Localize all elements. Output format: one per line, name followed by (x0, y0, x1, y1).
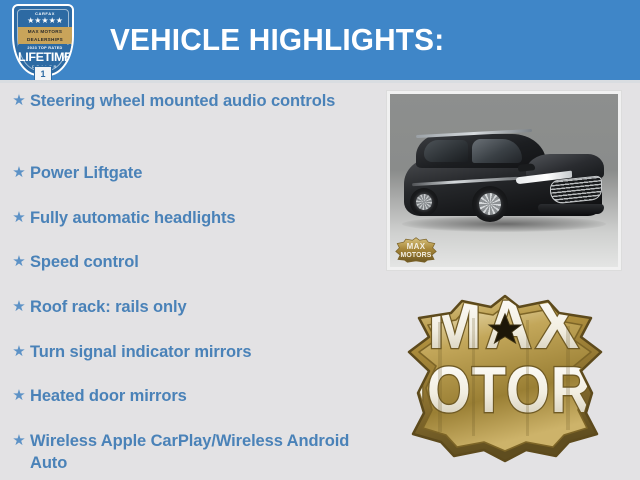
feature-label: Heated door mirrors (30, 385, 372, 407)
star-bullet-icon: ★ (8, 162, 30, 184)
suv-windshield (472, 139, 522, 163)
feature-label: Power Liftgate (30, 162, 372, 184)
suv-illustration (398, 124, 610, 236)
feature-item: ★Fully automatic headlights (8, 207, 372, 229)
photo-watermark-logo: MAX MOTORS MAX MOTORS (394, 237, 438, 263)
star-bullet-icon: ★ (8, 385, 30, 407)
photo-watermark-text: MAX MOTORS (438, 237, 439, 238)
suv-ground-shadow (402, 216, 606, 232)
slide-header: CARFAX ★★★★★ MAX MOTORS DEALERSHIPS 2023… (0, 0, 640, 80)
feature-item: ★Roof rack: rails only (8, 296, 372, 318)
svg-text:MOTORS: MOTORS (400, 252, 431, 259)
svg-text:MAX: MAX (407, 242, 426, 251)
badge-lifetime-label: LIFETIME (15, 51, 74, 64)
star-bullet-icon: ★ (8, 296, 30, 318)
feature-item: ★Heated door mirrors (8, 385, 372, 407)
feature-label: Speed control (30, 251, 372, 273)
dealer-logo-line2: MOTORS (612, 292, 613, 293)
star-bullet-icon: ★ (8, 341, 30, 363)
badge-shield-shape: CARFAX ★★★★★ MAX MOTORS DEALERSHIPS 2023… (12, 4, 74, 76)
feature-label: Roof rack: rails only (30, 296, 372, 318)
vehicle-photo: MAX MOTORS MAX MOTORS (386, 90, 622, 271)
star-bullet-icon: ★ (8, 251, 30, 273)
star-bullet-icon: ★ (8, 430, 30, 452)
max-motors-logo: MAX MOTORS MAX MOTORS (398, 292, 612, 464)
feature-label: Turn signal indicator mirrors (30, 341, 372, 363)
suv-front-wheel (472, 186, 508, 222)
vehicle-photo-image: MAX MOTORS MAX MOTORS (390, 94, 618, 267)
feature-item: ★Wireless Apple CarPlay/Wireless Android… (8, 430, 372, 474)
svg-text:MOTORS: MOTORS (398, 353, 612, 426)
feature-item: ★Speed control (8, 251, 372, 273)
feature-label: Fully automatic headlights (30, 207, 372, 229)
dealer-logo-line1: MAX (612, 292, 613, 293)
suv-rear-window (424, 140, 468, 162)
page-title: VEHICLE HIGHLIGHTS: (110, 21, 444, 59)
badge-ribbon-icon: 1 (34, 66, 52, 80)
suv-rear-wheel (410, 188, 438, 216)
feature-item: ★Turn signal indicator mirrors (8, 341, 372, 363)
carfax-top-rated-dealer-badge: CARFAX ★★★★★ MAX MOTORS DEALERSHIPS 2023… (12, 4, 74, 80)
star-bullet-icon: ★ (8, 90, 30, 112)
header-divider (0, 80, 640, 83)
badge-dealer-name-line1: MAX MOTORS (18, 27, 72, 36)
feature-label: Steering wheel mounted audio controls (30, 90, 372, 112)
badge-dealer-name-line2: DEALERSHIPS (18, 36, 72, 44)
feature-label: Wireless Apple CarPlay/Wireless Android … (30, 430, 372, 474)
badge-rank-number: 1 (35, 69, 51, 79)
star-bullet-icon: ★ (8, 207, 30, 229)
vehicle-highlights-slide: CARFAX ★★★★★ MAX MOTORS DEALERSHIPS 2023… (0, 0, 640, 480)
feature-item: ★Power Liftgate (8, 162, 372, 184)
feature-item: ★Steering wheel mounted audio controls (8, 90, 372, 112)
suv-front-bumper (538, 204, 604, 214)
badge-star-rating: ★★★★★ (14, 17, 74, 25)
